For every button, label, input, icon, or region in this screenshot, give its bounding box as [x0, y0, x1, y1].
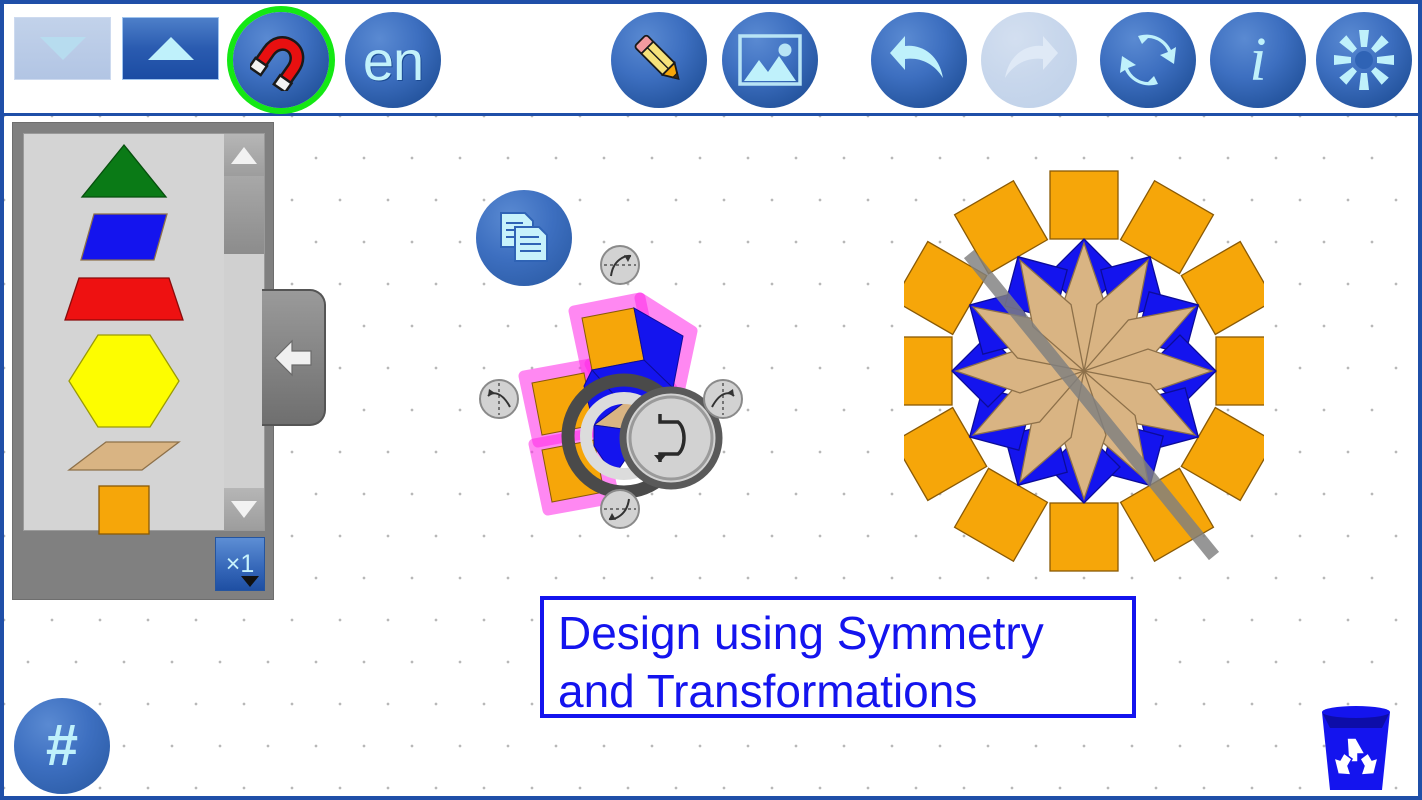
multiplier-button[interactable]: ×1	[215, 537, 265, 591]
magnet-snap-button[interactable]	[233, 12, 329, 108]
palette-item-tan-rhombus[interactable]	[24, 436, 224, 476]
triangle-down-icon	[40, 37, 86, 60]
language-button[interactable]: en	[345, 12, 441, 108]
language-label: en	[363, 28, 423, 93]
palette-item-red-trapezoid[interactable]	[24, 272, 224, 326]
red-trapezoid-icon	[62, 275, 186, 323]
scroll-down-button[interactable]	[224, 488, 264, 530]
flip-vertical-bottom-handle[interactable]	[599, 488, 641, 530]
page-up-button[interactable]	[122, 17, 219, 80]
redo-arrow-icon	[997, 32, 1061, 88]
orange-square-icon	[96, 484, 152, 536]
image-button[interactable]	[722, 12, 818, 108]
undo-button[interactable]	[871, 12, 967, 108]
recycle-bin[interactable]	[1308, 702, 1404, 794]
palette-item-orange-square[interactable]	[24, 482, 224, 538]
grid-toggle-button[interactable]: #	[14, 698, 110, 794]
shape-palette-list[interactable]	[23, 133, 265, 531]
magnet-icon	[250, 29, 312, 91]
symmetry-rosette-design[interactable]	[904, 126, 1264, 596]
page-down-button[interactable]	[14, 17, 111, 80]
flip-horizontal-left-handle[interactable]	[478, 378, 520, 420]
redo-button[interactable]	[981, 12, 1077, 108]
scroll-down-arrow-icon	[231, 501, 257, 518]
sun-gear-icon	[1331, 27, 1397, 93]
scrollbar-thumb[interactable]	[224, 176, 264, 254]
hash-icon: #	[46, 717, 78, 775]
palette-scrollbar[interactable]	[224, 134, 264, 530]
app-window: en	[0, 0, 1422, 800]
scroll-up-arrow-icon	[231, 147, 257, 164]
arrow-left-icon	[272, 334, 314, 382]
refresh-button[interactable]	[1100, 12, 1196, 108]
palette-item-blue-rhombus[interactable]	[24, 208, 224, 266]
shape-list	[24, 134, 224, 530]
caption-line-2: and Transformations	[558, 662, 1118, 720]
multiplier-label: ×1	[226, 550, 255, 579]
refresh-cycle-icon	[1116, 28, 1180, 92]
info-label: i	[1249, 29, 1266, 91]
palette-item-green-triangle[interactable]	[24, 140, 224, 202]
blue-rhombus-icon	[64, 211, 184, 263]
shape-palette: ×1	[12, 122, 274, 600]
caption-line-1: Design using Symmetry	[558, 604, 1118, 662]
info-button[interactable]: i	[1210, 12, 1306, 108]
top-toolbar: en	[4, 4, 1418, 116]
palette-item-yellow-hexagon[interactable]	[24, 332, 224, 430]
pencil-icon	[626, 27, 692, 93]
flip-vertical-top-handle[interactable]	[599, 244, 641, 286]
settings-button[interactable]	[1316, 12, 1412, 108]
design-caption-textbox[interactable]: Design using Symmetry and Transformation…	[540, 596, 1136, 718]
tan-thin-rhombus-icon	[66, 439, 182, 473]
flip-horizontal-right-handle[interactable]	[702, 378, 744, 420]
selected-shape-cluster[interactable]	[464, 236, 764, 656]
triangle-up-icon	[148, 37, 194, 60]
undo-arrow-icon	[887, 32, 951, 88]
recycle-bin-icon	[1308, 702, 1404, 794]
yellow-hexagon-icon	[66, 332, 182, 430]
caret-down-icon	[241, 576, 259, 587]
picture-icon	[737, 32, 803, 88]
palette-collapse-tab[interactable]	[262, 289, 326, 426]
draw-button[interactable]	[611, 12, 707, 108]
scroll-up-button[interactable]	[224, 134, 264, 176]
green-triangle-icon	[79, 142, 169, 200]
